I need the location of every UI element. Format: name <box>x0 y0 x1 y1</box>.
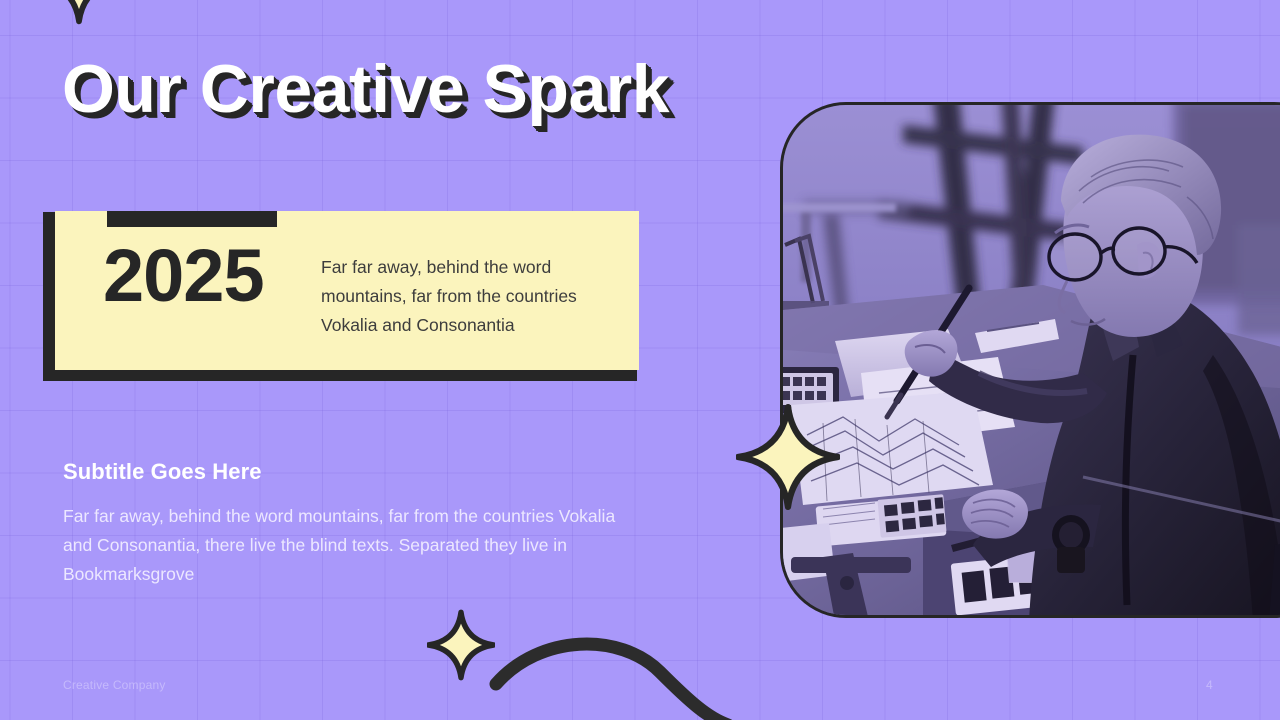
curved-line-decoration <box>480 630 780 720</box>
year-description: Far far away, behind the word mountains,… <box>321 253 621 340</box>
studio-photo-illustration <box>783 105 1280 618</box>
sparkle-icon <box>38 0 120 26</box>
card-accent-tab <box>107 211 277 227</box>
year-value: 2025 <box>103 239 303 313</box>
year-highlight-card: 2025 Far far away, behind the word mount… <box>43 211 651 391</box>
page-number: 4 <box>1206 678 1213 692</box>
footer-brand: Creative Company <box>63 678 166 692</box>
sparkle-icon <box>736 402 840 512</box>
presentation-slide: Our Creative Spark 2025 Far far away, be… <box>0 0 1280 720</box>
page-title: Our Creative Spark <box>62 54 669 125</box>
card-body: 2025 Far far away, behind the word mount… <box>55 211 639 370</box>
photo-panel <box>780 102 1280 618</box>
body-paragraph: Far far away, behind the word mountains,… <box>63 502 619 589</box>
subtitle-heading: Subtitle Goes Here <box>63 459 262 485</box>
